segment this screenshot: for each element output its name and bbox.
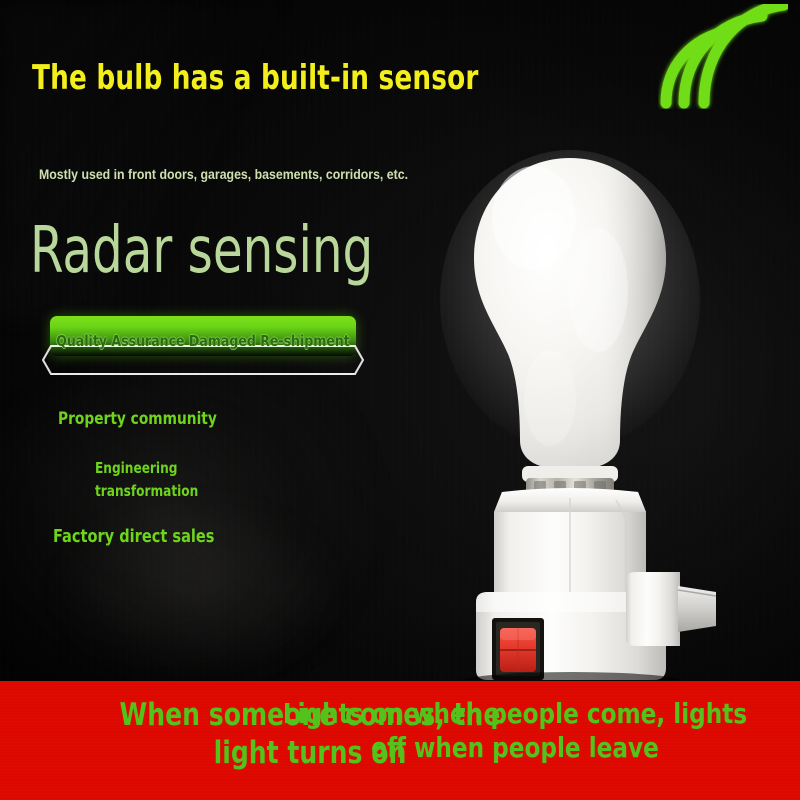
keyword-factory-direct-sales: Factory direct sales xyxy=(53,526,214,547)
plug-prong-icon xyxy=(678,586,716,632)
rocker-switch-icon xyxy=(492,618,544,680)
quality-assurance-badge: Quality Assurance Damaged Re-shipment xyxy=(42,316,364,378)
keyword-engineering-transformation: Engineering transformation xyxy=(95,457,198,502)
badge-label: Quality Assurance Damaged Re-shipment xyxy=(53,332,352,350)
poster-headline: The bulb has a built-in sensor xyxy=(32,58,479,98)
keyword-property-community: Property community xyxy=(58,409,217,429)
poster-big-title: Radar sensing xyxy=(30,219,373,283)
radar-wave-icon xyxy=(658,4,788,109)
promo-poster: The bulb has a built-in sensor Mostly us… xyxy=(0,0,800,800)
banner-text-right: Lights on when people come, lights off w… xyxy=(248,697,782,765)
product-image xyxy=(430,140,770,680)
poster-subheadline: Mostly used in front doors, garages, bas… xyxy=(39,166,408,182)
bottom-banner: When someone comes, the light turns on L… xyxy=(0,681,800,800)
